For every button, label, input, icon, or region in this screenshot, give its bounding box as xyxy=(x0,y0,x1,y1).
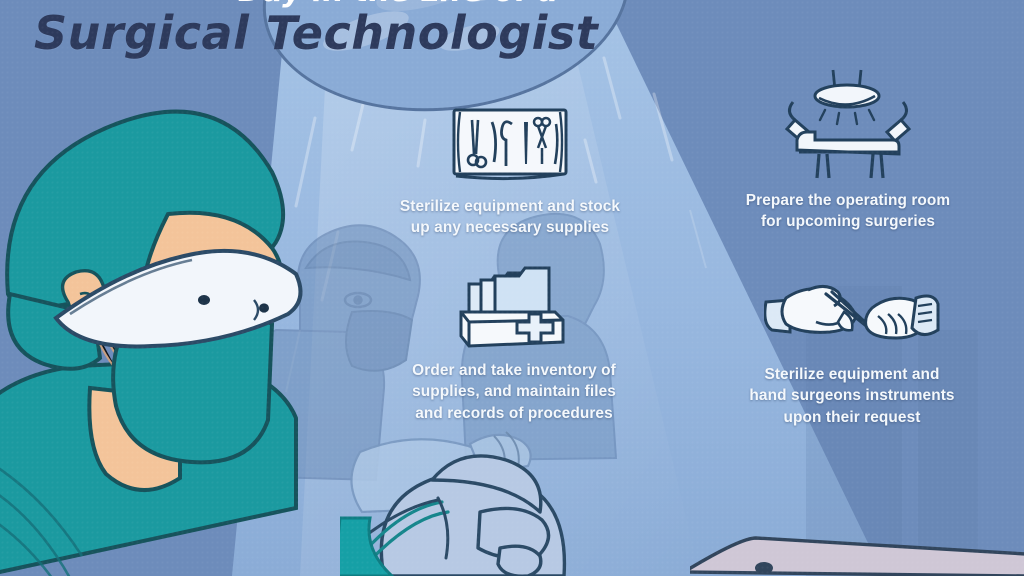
duty-item-4: Sterilize equipment and hand surgeons in… xyxy=(704,272,1000,428)
duty-3-caption: Order and take inventory of supplies, an… xyxy=(366,360,662,424)
operating-table-edge xyxy=(690,524,1024,576)
duty-item-1: Sterilize equipment and stock up any nec… xyxy=(352,104,668,239)
infographic-canvas: Day in the Life of a Surgical Technologi… xyxy=(0,0,1024,576)
duty-4-icon-wrap xyxy=(704,272,1000,350)
duty-2-icon-wrap xyxy=(700,68,996,180)
duty-1-caption: Sterilize equipment and stock up any nec… xyxy=(352,196,668,239)
duty-2-caption: Prepare the operating room for upcoming … xyxy=(700,190,996,233)
duty-4-caption: Sterilize equipment and hand surgeons in… xyxy=(704,364,1000,428)
duty-item-2: Prepare the operating room for upcoming … xyxy=(700,68,996,233)
duty-item-3: Order and take inventory of supplies, an… xyxy=(366,262,662,424)
operating-room-table-lamp-icon xyxy=(775,68,921,180)
medical-file-box-icon xyxy=(455,262,573,348)
surgical-instrument-tray-icon xyxy=(446,104,574,184)
gloved-hands-passing-instrument-icon xyxy=(764,272,940,350)
surgical-technologist-character xyxy=(0,88,332,576)
duty-1-icon-wrap xyxy=(352,104,668,184)
page-title: Surgical Technologist xyxy=(34,6,598,60)
duty-3-icon-wrap xyxy=(366,262,662,348)
